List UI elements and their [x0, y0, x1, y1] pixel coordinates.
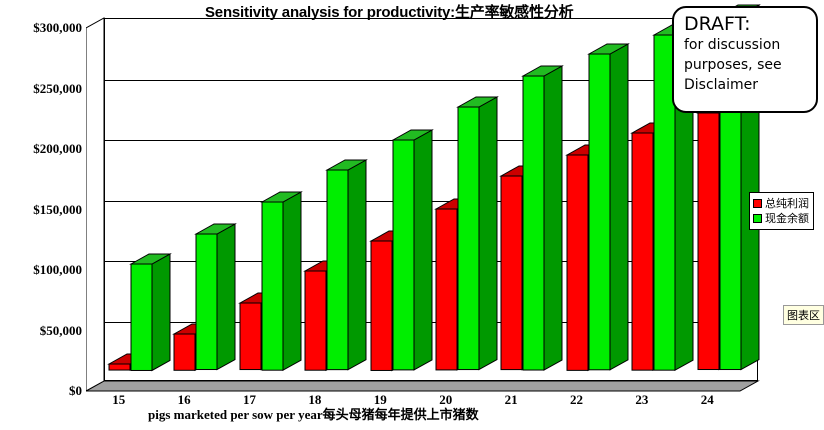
bar-总纯利润-16[interactable]: [174, 336, 195, 372]
bar-现金余额-17[interactable]: [262, 204, 283, 372]
bar-现金余额-20[interactable]: [458, 109, 479, 372]
x-tick-label: 15: [112, 392, 125, 408]
bar-总纯利润-17[interactable]: [240, 305, 261, 372]
bar-series-container: [104, 18, 758, 382]
legend-item[interactable]: 现金余额: [753, 211, 809, 226]
chart-legend[interactable]: 总纯利润 现金余额: [749, 192, 814, 230]
bar-现金余额-22[interactable]: [589, 56, 610, 372]
bar-现金余额-19[interactable]: [393, 142, 414, 372]
legend-item[interactable]: 总纯利润: [753, 196, 809, 211]
bar-总纯利润-19[interactable]: [371, 243, 392, 372]
bar-总纯利润-18[interactable]: [305, 273, 326, 372]
y-tick-label: $100,000: [33, 262, 82, 278]
bar-现金余额-16[interactable]: [196, 236, 217, 372]
draft-line-1: for discussion: [684, 35, 808, 55]
bar-总纯利润-24[interactable]: [698, 115, 719, 372]
legend-label-profit: 总纯利润: [765, 198, 809, 209]
chart-screenshot: Sensitivity analysis for productivity:生产…: [0, 0, 824, 430]
draft-callout: DRAFT: for discussion purposes, see Disc…: [672, 6, 818, 113]
bar-总纯利润-22[interactable]: [567, 157, 588, 372]
legend-swatch-cash: [753, 214, 762, 223]
legend-swatch-profit: [753, 199, 762, 208]
y-tick-label: $150,000: [33, 202, 82, 218]
bar-总纯利润-15[interactable]: [109, 366, 130, 372]
y-tick-label: $300,000: [33, 20, 82, 36]
chart-title: Sensitivity analysis for productivity:生产…: [205, 1, 675, 21]
bar-总纯利润-20[interactable]: [436, 211, 457, 372]
chart-area-tooltip: 图表区: [783, 305, 824, 325]
bar-现金余额-21[interactable]: [523, 78, 544, 372]
draft-title: DRAFT:: [684, 13, 808, 35]
y-tick-label: $50,000: [40, 323, 82, 339]
y-axis-labels: $0$50,000$100,000$150,000$200,000$250,00…: [0, 0, 86, 430]
x-axis-title: pigs marketed per sow per year每头母猪每年提供上市…: [148, 404, 708, 423]
draft-line-3: Disclaimer: [684, 75, 808, 95]
bar-总纯利润-23[interactable]: [632, 135, 653, 372]
y-tick-label: $250,000: [33, 81, 82, 97]
legend-label-cash: 现金余额: [765, 213, 809, 224]
bar-总纯利润-21[interactable]: [501, 178, 522, 372]
plot-area: [86, 10, 756, 395]
bar-现金余额-15[interactable]: [131, 266, 152, 372]
y-tick-label: $200,000: [33, 141, 82, 157]
bar-现金余额-18[interactable]: [327, 172, 348, 372]
draft-line-2: purposes, see: [684, 55, 808, 75]
